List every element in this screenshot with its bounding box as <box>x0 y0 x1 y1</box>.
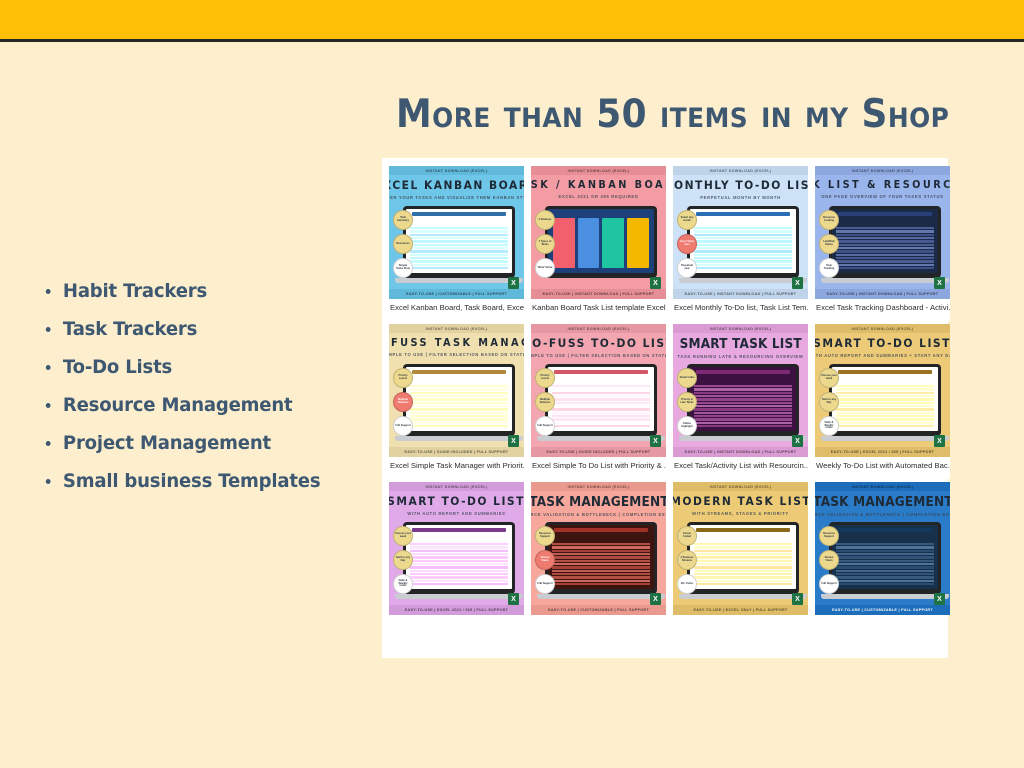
support-banner: EASY-TO-USE | CUSTOMIZABLE | FULL SUPPOR… <box>815 605 950 615</box>
thumbnail-subtitle: ONE PAGE OVERVIEW OF YOUR TASKS STATUS <box>821 194 943 199</box>
feature-badge: Full Support <box>535 416 555 436</box>
product-gallery-panel: INSTANT DOWNLOAD (EXCEL)EXCEL KANBAN BOA… <box>382 158 948 658</box>
slide-canvas: More than 50 items in my Shop Habit Trac… <box>0 0 1024 768</box>
feature-badge: Resource Support <box>819 526 839 546</box>
feature-badge: Status Highlight <box>677 416 697 436</box>
product-card[interactable]: INSTANT DOWNLOAD (EXCEL)EXCEL KANBAN BOA… <box>389 166 524 321</box>
product-card[interactable]: INSTANT DOWNLOAD (EXCEL)MONTHLY TO-DO LI… <box>673 166 808 321</box>
product-caption[interactable]: Excel Task/Activity List with Resourcin.… <box>673 461 808 470</box>
thumbnail-title: MONTHLY TO-DO LIST <box>673 180 808 192</box>
thumbnail-title: SMART TASK LIST <box>679 338 801 351</box>
product-card[interactable]: INSTANT DOWNLOAD (EXCEL)NO-FUSS TO-DO LI… <box>531 324 666 479</box>
list-item: Resource Management <box>42 394 356 416</box>
instant-download-banner: INSTANT DOWNLOAD (EXCEL) <box>815 324 950 333</box>
feature-badge: 90+ Tasks <box>677 574 697 594</box>
instant-download-banner: INSTANT DOWNLOAD (EXCEL) <box>673 324 808 333</box>
support-banner: EASY-TO-USE | INSTANT DOWNLOAD | FULL SU… <box>815 289 950 299</box>
product-caption[interactable]: Weekly To-Do List with Automated Bac... <box>815 461 950 470</box>
excel-logo-icon <box>650 277 661 289</box>
feature-badge: Select any month <box>677 210 697 230</box>
feature-badge: Stream Views <box>819 550 839 570</box>
feature-badge: Late/Risk Status <box>819 234 839 254</box>
feature-badge: 4 Statuses <box>535 210 555 230</box>
instant-download-banner: INSTANT DOWNLOAD (EXCEL) <box>389 482 524 491</box>
thumbnail-title: TASK MANAGEMENT <box>531 496 666 509</box>
feature-badge: Stream Views <box>535 550 555 570</box>
feature-badge: Task Summary <box>393 210 413 230</box>
product-thumbnail[interactable]: INSTANT DOWNLOAD (EXCEL)TASK MANAGEMENTR… <box>531 482 666 615</box>
thumbnail-title: NO-FUSS TASK MANAGER <box>389 338 524 349</box>
instant-download-banner: INSTANT DOWNLOAD (EXCEL) <box>531 324 666 333</box>
excel-logo-icon <box>934 277 945 289</box>
thumbnail-subtitle: WITH AUTO REPORT AND SUMMARIES <box>407 511 505 516</box>
device-mockup <box>829 364 941 436</box>
list-item: Small business Templates <box>42 470 356 492</box>
excel-logo-icon <box>650 435 661 447</box>
instant-download-banner: INSTANT DOWNLOAD (EXCEL) <box>815 166 950 175</box>
device-mockup <box>403 206 515 278</box>
feature-badge: 7 Types of Tasks <box>535 234 555 254</box>
device-mockup <box>403 364 515 436</box>
device-mockup <box>545 206 657 278</box>
device-mockup <box>687 206 799 278</box>
feature-badge: Resources <box>393 234 413 254</box>
product-subcaption <box>673 472 808 479</box>
feature-badge: Priority Levels <box>393 368 413 388</box>
feature-badge: Smart Links <box>677 368 697 388</box>
feature-bullet-list: Habit Trackers Task Trackers To-Do Lists… <box>42 280 372 508</box>
excel-logo-icon <box>934 435 945 447</box>
instant-download-banner: INSTANT DOWNLOAD (EXCEL) <box>815 482 950 491</box>
product-thumbnail[interactable]: INSTANT DOWNLOAD (EXCEL)EXCEL KANBAN BOA… <box>389 166 524 299</box>
thumbnail-subtitle: RESOURCE VALIDATION & BOTTLENECK | COMPL… <box>531 512 666 517</box>
feature-badge: Perpetual year <box>677 258 697 278</box>
thumbnail-subtitle: PERPETUAL MONTH BY MONTH <box>700 195 781 200</box>
product-card[interactable]: INSTANT DOWNLOAD (EXCEL)SMART TO-DO LIST… <box>389 482 524 615</box>
thumbnail-subtitle: SIMPLE TO USE | FILTER SELECTION BASED O… <box>531 353 666 358</box>
feature-badge: Resource Support <box>535 526 555 546</box>
excel-logo-icon <box>508 435 519 447</box>
gallery-row: INSTANT DOWNLOAD (EXCEL)NO-FUSS TASK MAN… <box>389 324 941 479</box>
support-banner: EASY-TO-USE | INSTANT DOWNLOAD | FULL SU… <box>673 447 808 457</box>
feature-badge: Colour Coded <box>677 526 697 546</box>
feature-badge: Choose your week <box>819 368 839 388</box>
support-banner: EASY-TO-USE | GUIDE INCLUDED | FULL SUPP… <box>389 447 524 457</box>
product-subcaption <box>531 472 666 479</box>
excel-logo-icon <box>792 593 803 605</box>
support-banner: EASY-TO-USE | EXCEL 2021 / 365 | FULL SU… <box>389 605 524 615</box>
excel-logo-icon <box>792 277 803 289</box>
feature-badges: Choose your weekStart in any DayDaily & … <box>819 368 839 440</box>
instant-download-banner: INSTANT DOWNLOAD (EXCEL) <box>673 166 808 175</box>
product-card[interactable]: INSTANT DOWNLOAD (EXCEL)MODERN TASK LIST… <box>673 482 808 615</box>
thumbnail-subtitle: TASK RUNNING LATE & RESOURCING OVERVIEW <box>677 354 803 359</box>
device-mockup <box>687 364 799 436</box>
list-item: Project Management <box>42 432 356 454</box>
thumbnail-subtitle: WITH AUTO REPORT AND SUMMARIES + START A… <box>815 353 950 358</box>
excel-logo-icon <box>508 277 519 289</box>
feature-badge: Daily & Weekly totals <box>819 416 839 436</box>
gallery-row: INSTANT DOWNLOAD (EXCEL)EXCEL KANBAN BOA… <box>389 166 941 321</box>
thumbnail-subtitle: SIMPLE TO USE | FILTER SELECTION BASED O… <box>389 352 524 357</box>
product-thumbnail[interactable]: INSTANT DOWNLOAD (EXCEL)TASK / KANBAN BO… <box>531 166 666 299</box>
feature-badges: Resource SupportStream ViewsFull Support <box>819 526 839 598</box>
thumbnail-subtitle: EXCEL 2021 OR 365 REQUIRED <box>558 194 638 199</box>
instant-download-banner: INSTANT DOWNLOAD (EXCEL) <box>531 166 666 175</box>
feature-badges: Colour Coded4 Statuses Streams90+ Tasks <box>677 526 697 598</box>
product-card[interactable]: INSTANT DOWNLOAD (EXCEL)NO-FUSS TASK MAN… <box>389 324 524 479</box>
thumbnail-title: EXCEL KANBAN BOARD <box>389 180 524 192</box>
product-caption[interactable]: Kanban Board Task List template Excel... <box>531 303 666 312</box>
thumbnail-subtitle: WITH STREAMS, STAGES & PRIORITY <box>692 511 789 516</box>
product-thumbnail[interactable]: INSTANT DOWNLOAD (EXCEL)SMART TO-DO LIST… <box>815 324 950 457</box>
feature-badge: Full Support <box>393 416 413 436</box>
feature-badge: Simple Tasks Flow <box>393 258 413 278</box>
thumbnail-title: MODERN TASK LIST <box>673 496 808 508</box>
product-card[interactable]: INSTANT DOWNLOAD (EXCEL)TASK MANAGEMENTR… <box>531 482 666 615</box>
thumbnail-title: TASK LIST & RESOURCING <box>815 180 950 191</box>
device-mockup <box>829 206 941 278</box>
feature-badge: Multiple Statuses <box>535 392 555 412</box>
excel-logo-icon <box>792 435 803 447</box>
feature-badges: Resource LoadingLate/Risk StatusTask Tra… <box>819 210 839 282</box>
feature-badge: Daily & Weekly totals <box>393 574 413 594</box>
thumbnail-title: SMART TO-DO LIST <box>389 496 524 508</box>
feature-badges: Priority LevelsMultiple StatusesFull Sup… <box>393 368 413 440</box>
product-caption[interactable]: Excel Monthly To-Do list, Task List Tem.… <box>673 303 808 312</box>
feature-badge: Resource Loading <box>819 210 839 230</box>
product-thumbnail[interactable]: INSTANT DOWNLOAD (EXCEL)MONTHLY TO-DO LI… <box>673 166 808 299</box>
feature-badge: Priority & Late Tasks <box>677 392 697 412</box>
product-subcaption <box>389 472 524 479</box>
product-subcaption <box>389 314 524 321</box>
feature-badge: Carry Tasks over <box>677 234 697 254</box>
feature-badge: 'Wow' factor <box>535 258 555 278</box>
support-banner: EASY-TO-USE | INSTANT DOWNLOAD | FULL SU… <box>673 289 808 299</box>
feature-badge: Full Support <box>819 574 839 594</box>
feature-badges: Choose your weekStart in any DayDaily & … <box>393 526 413 598</box>
thumbnail-subtitle: RESOURCE VALIDATION & BOTTLENECK | COMPL… <box>815 512 950 517</box>
support-banner: EASY-TO-USE | CUSTOMIZABLE | FULL SUPPOR… <box>531 605 666 615</box>
list-item: To-Do Lists <box>42 356 356 378</box>
product-thumbnail[interactable]: INSTANT DOWNLOAD (EXCEL)TASK MANAGEMENTR… <box>815 482 950 615</box>
thumbnail-title: SMART TO-DO LIST <box>815 338 950 350</box>
product-caption[interactable]: Excel Simple To Do List with Priority & … <box>531 461 666 470</box>
feature-badge: 4 Statuses Streams <box>677 550 697 570</box>
thumbnail-title: NO-FUSS TO-DO LIST <box>531 338 666 350</box>
device-mockup <box>829 522 941 594</box>
gallery-row: INSTANT DOWNLOAD (EXCEL)SMART TO-DO LIST… <box>389 482 941 615</box>
product-subcaption <box>815 314 950 321</box>
feature-badge: Task Tracking <box>819 258 839 278</box>
thumbnail-subtitle: ENTER YOUR TASKS AND VISUALIZE THEM KANB… <box>389 195 524 200</box>
product-caption[interactable]: Excel Kanban Board, Task Board, Excel... <box>389 303 524 312</box>
support-banner: EASY-TO-USE | GUIDE INCLUDED | FULL SUPP… <box>531 447 666 457</box>
thumbnail-title: TASK / KANBAN BOARD <box>531 180 666 191</box>
feature-badges: Resource SupportStream ViewsFull Support <box>535 526 555 598</box>
feature-badge: Multiple Statuses <box>393 392 413 412</box>
product-thumbnail[interactable]: INSTANT DOWNLOAD (EXCEL)MODERN TASK LIST… <box>673 482 808 615</box>
feature-badges: Select any monthCarry Tasks overPerpetua… <box>677 210 697 282</box>
product-caption[interactable]: Excel Task Tracking Dashboard - Activi..… <box>815 303 950 312</box>
feature-badges: Smart LinksPriority & Late TasksStatus H… <box>677 368 697 440</box>
list-item: Habit Trackers <box>42 280 356 302</box>
product-thumbnail[interactable]: INSTANT DOWNLOAD (EXCEL)SMART TO-DO LIST… <box>389 482 524 615</box>
product-thumbnail[interactable]: INSTANT DOWNLOAD (EXCEL)NO-FUSS TASK MAN… <box>389 324 524 457</box>
device-mockup <box>687 522 799 594</box>
product-card[interactable]: INSTANT DOWNLOAD (EXCEL)SMART TO-DO LIST… <box>815 324 950 479</box>
excel-logo-icon <box>934 593 945 605</box>
support-banner: EASY-TO-USE | EXCEL 2021 / 365 | FULL SU… <box>815 447 950 457</box>
product-card[interactable]: INSTANT DOWNLOAD (EXCEL)TASK / KANBAN BO… <box>531 166 666 321</box>
feature-badge: Choose your week <box>393 526 413 546</box>
feature-badges: 4 Statuses7 Types of Tasks'Wow' factor <box>535 210 555 282</box>
top-accent-bar <box>0 0 1024 42</box>
feature-badges: Priority LevelsMultiple StatusesFull Sup… <box>535 368 555 440</box>
page-title: More than 50 items in my Shop <box>396 92 948 137</box>
product-thumbnail[interactable]: INSTANT DOWNLOAD (EXCEL)SMART TASK LISTT… <box>673 324 808 457</box>
instant-download-banner: INSTANT DOWNLOAD (EXCEL) <box>673 482 808 491</box>
support-banner: EASY-TO-USE | INSTANT DOWNLOAD | FULL SU… <box>531 289 666 299</box>
feature-badge: Start in any Day <box>819 392 839 412</box>
product-subcaption <box>673 314 808 321</box>
feature-badges: Task SummaryResourcesSimple Tasks Flow <box>393 210 413 282</box>
product-card[interactable]: INSTANT DOWNLOAD (EXCEL)TASK LIST & RESO… <box>815 166 950 321</box>
feature-badge: Priority Levels <box>535 368 555 388</box>
product-subcaption <box>531 314 666 321</box>
instant-download-banner: INSTANT DOWNLOAD (EXCEL) <box>389 324 524 333</box>
instant-download-banner: INSTANT DOWNLOAD (EXCEL) <box>389 166 524 175</box>
excel-logo-icon <box>650 593 661 605</box>
excel-logo-icon <box>508 593 519 605</box>
product-card[interactable]: INSTANT DOWNLOAD (EXCEL)SMART TASK LISTT… <box>673 324 808 479</box>
product-card[interactable]: INSTANT DOWNLOAD (EXCEL)TASK MANAGEMENTR… <box>815 482 950 615</box>
support-banner: EASY-TO-USE | CUSTOMIZABLE | FULL SUPPOR… <box>389 289 524 299</box>
product-caption[interactable]: Excel Simple Task Manager with Priorit..… <box>389 461 524 470</box>
feature-badge: Start in any Day <box>393 550 413 570</box>
instant-download-banner: INSTANT DOWNLOAD (EXCEL) <box>531 482 666 491</box>
product-thumbnail[interactable]: INSTANT DOWNLOAD (EXCEL)TASK LIST & RESO… <box>815 166 950 299</box>
device-mockup <box>403 522 515 594</box>
product-thumbnail[interactable]: INSTANT DOWNLOAD (EXCEL)NO-FUSS TO-DO LI… <box>531 324 666 457</box>
product-subcaption <box>815 472 950 479</box>
feature-badge: Full Support <box>535 574 555 594</box>
support-banner: EASY-TO-USE | EXCEL ONLY | FULL SUPPORT <box>673 605 808 615</box>
device-mockup <box>545 364 657 436</box>
list-item: Task Trackers <box>42 318 356 340</box>
device-mockup <box>545 522 657 594</box>
thumbnail-title: TASK MANAGEMENT <box>815 496 950 509</box>
